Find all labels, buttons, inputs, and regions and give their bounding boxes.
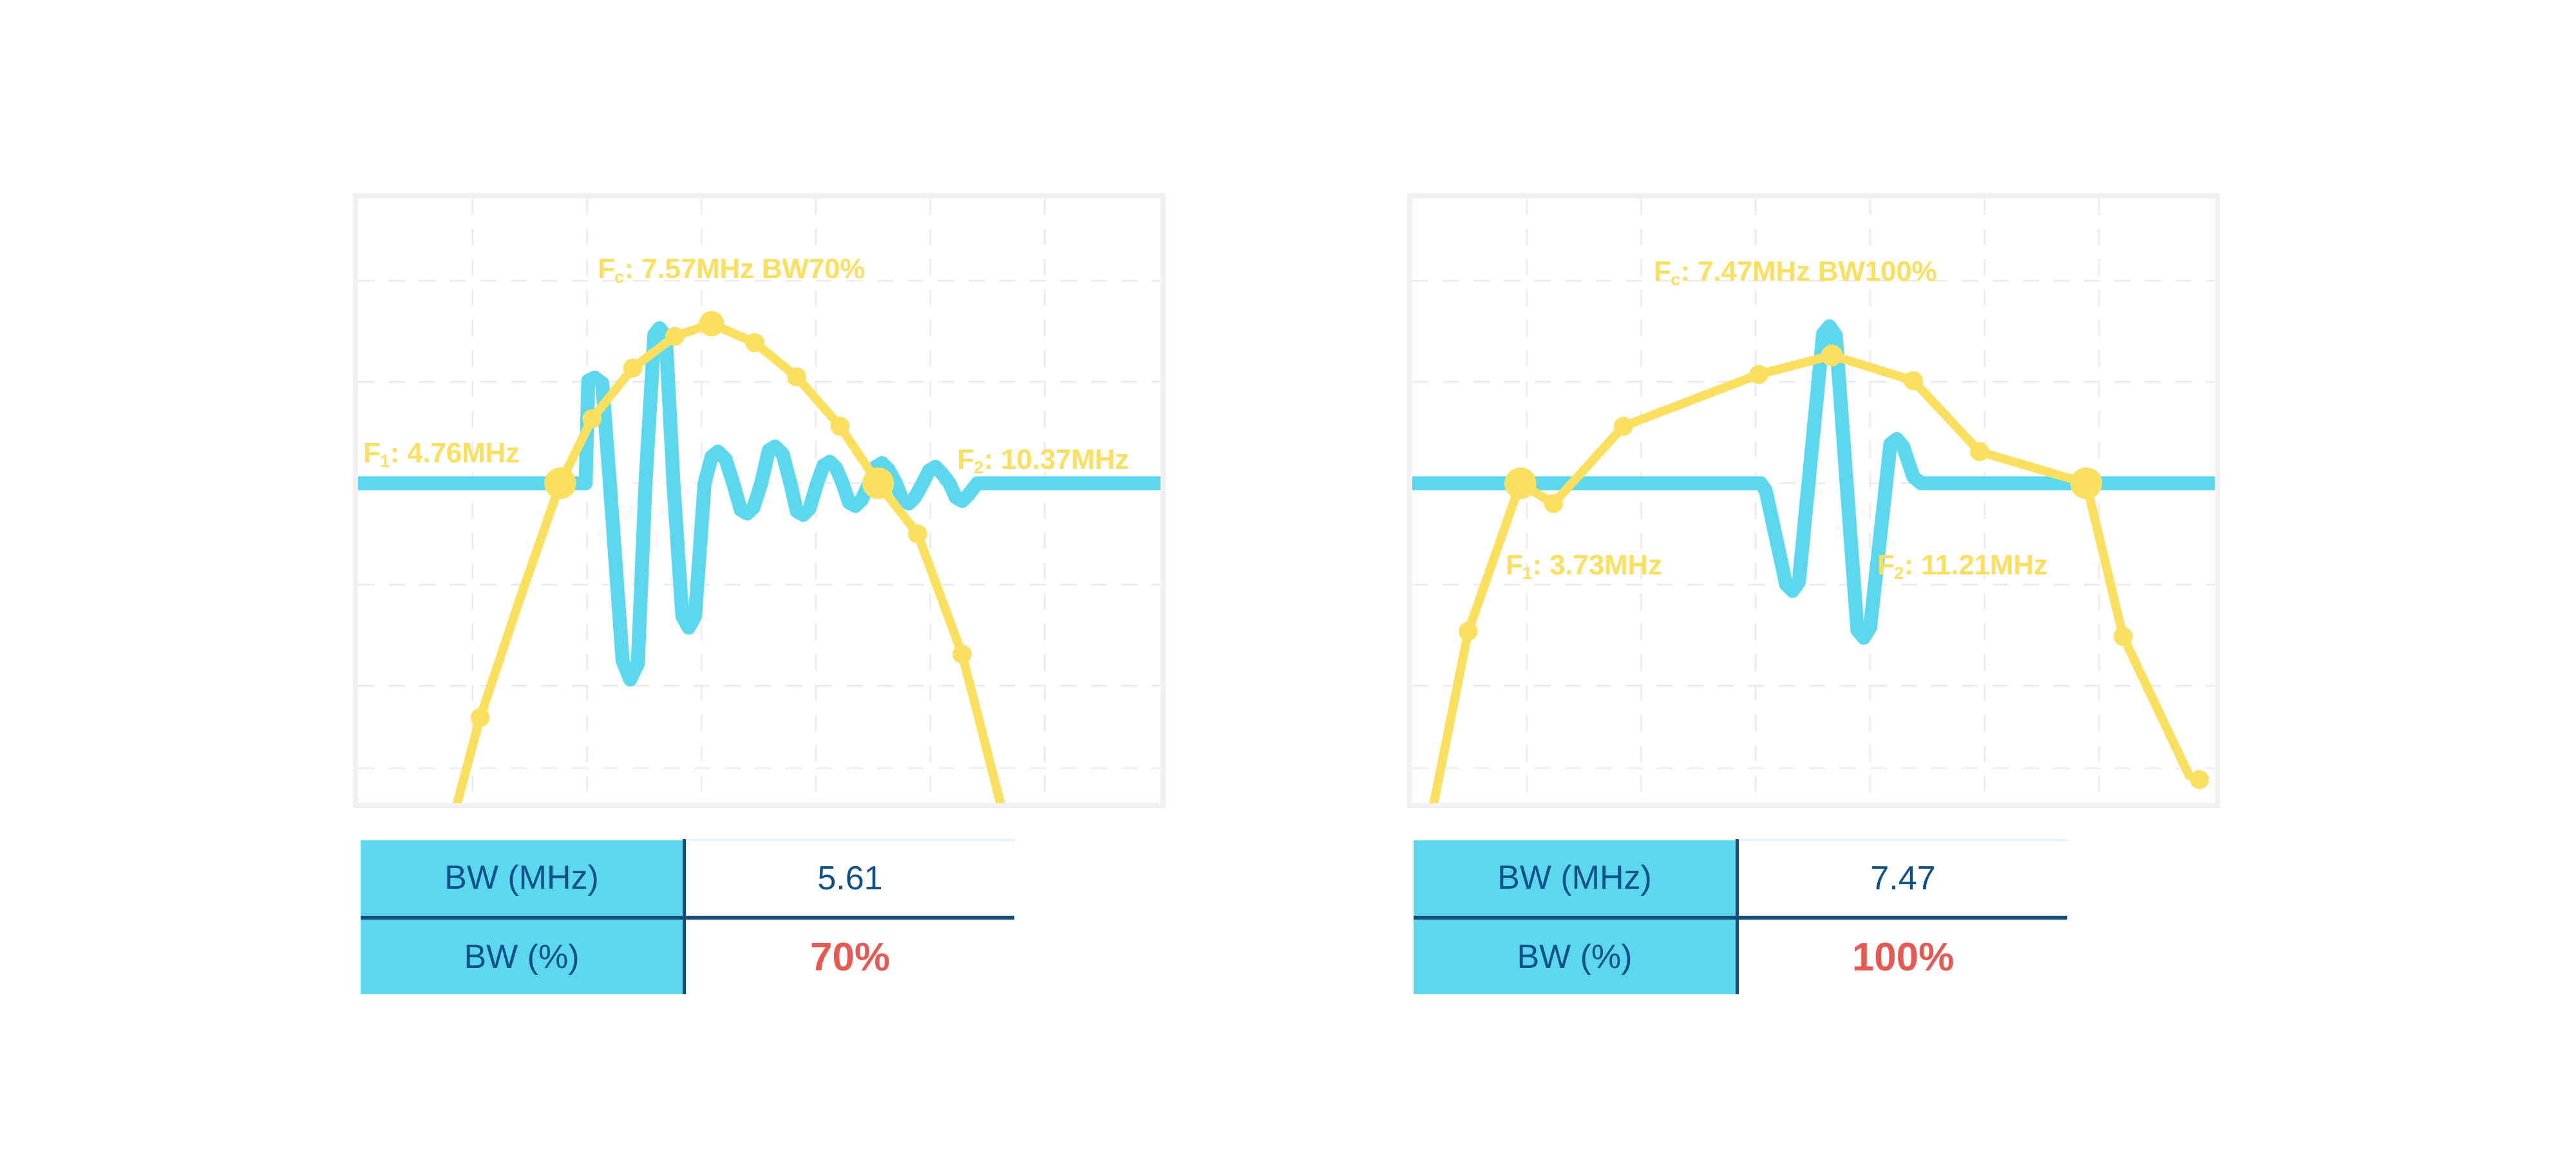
bandwidth-table-right: BW (MHz) 7.47 BW (%) 100% bbox=[1414, 839, 2067, 994]
marker-f2-right bbox=[2070, 468, 2102, 499]
plot-area-left: Fc: 7.57MHz BW70% F1: 4.76MHz F2: 10.37M… bbox=[353, 193, 1166, 808]
bandwidth-table-left: BW (MHz) 5.61 BW (%) 70% bbox=[361, 839, 1014, 994]
table-row: BW (MHz) 5.61 bbox=[361, 840, 1014, 918]
annotation-lower-cutoff-left: F1: 4.76MHz bbox=[363, 439, 520, 468]
row-label-bw-mhz-left: BW (MHz) bbox=[361, 840, 685, 918]
row-label-bw-percent-left: BW (%) bbox=[361, 918, 685, 994]
row-label-bw-percent-right: BW (%) bbox=[1414, 918, 1738, 994]
row-value-bw-percent-right: 100% bbox=[1738, 918, 2068, 994]
table-row: BW (%) 100% bbox=[1414, 918, 2067, 994]
spectrum-chart-right bbox=[1412, 198, 2215, 803]
panel-transducer-2: Fc: 7.47MHz BW100% F1: 3.73MHz F2: 11.21… bbox=[1407, 193, 2220, 808]
annotation-lower-cutoff-right: F1: 3.73MHz bbox=[1506, 551, 1662, 580]
impulse-response-trace-left bbox=[345, 328, 1178, 680]
annotation-center-frequency-right: Fc: 7.47MHz BW100% bbox=[1654, 258, 1937, 286]
row-label-bw-mhz-right: BW (MHz) bbox=[1414, 840, 1738, 918]
plot-area-right: Fc: 7.47MHz BW100% F1: 3.73MHz F2: 11.21… bbox=[1407, 193, 2220, 808]
annotation-center-frequency-left: Fc: 7.57MHz BW70% bbox=[598, 255, 865, 283]
annotation-upper-cutoff-right: F2: 11.21MHz bbox=[1877, 551, 2048, 580]
table-row: BW (MHz) 7.47 bbox=[1414, 840, 2067, 918]
marker-f1-right bbox=[1504, 468, 1536, 499]
annotation-upper-cutoff-left: F2: 10.37MHz bbox=[957, 446, 1129, 474]
comparison-figure: Fc: 7.57MHz BW70% F1: 4.76MHz F2: 10.37M… bbox=[0, 0, 2576, 1154]
row-value-bw-percent-left: 70% bbox=[685, 918, 1015, 994]
spectrum-chart-left bbox=[358, 198, 1160, 803]
row-value-bw-mhz-left: 5.61 bbox=[685, 840, 1015, 918]
panel-transducer-1: Fc: 7.57MHz BW70% F1: 4.76MHz F2: 10.37M… bbox=[353, 193, 1166, 808]
table-row: BW (%) 70% bbox=[361, 918, 1014, 994]
spectrum-trace-left bbox=[452, 324, 1005, 822]
marker-f2-left bbox=[862, 468, 894, 499]
row-value-bw-mhz-right: 7.47 bbox=[1738, 840, 2068, 918]
marker-f1-left bbox=[544, 468, 576, 499]
